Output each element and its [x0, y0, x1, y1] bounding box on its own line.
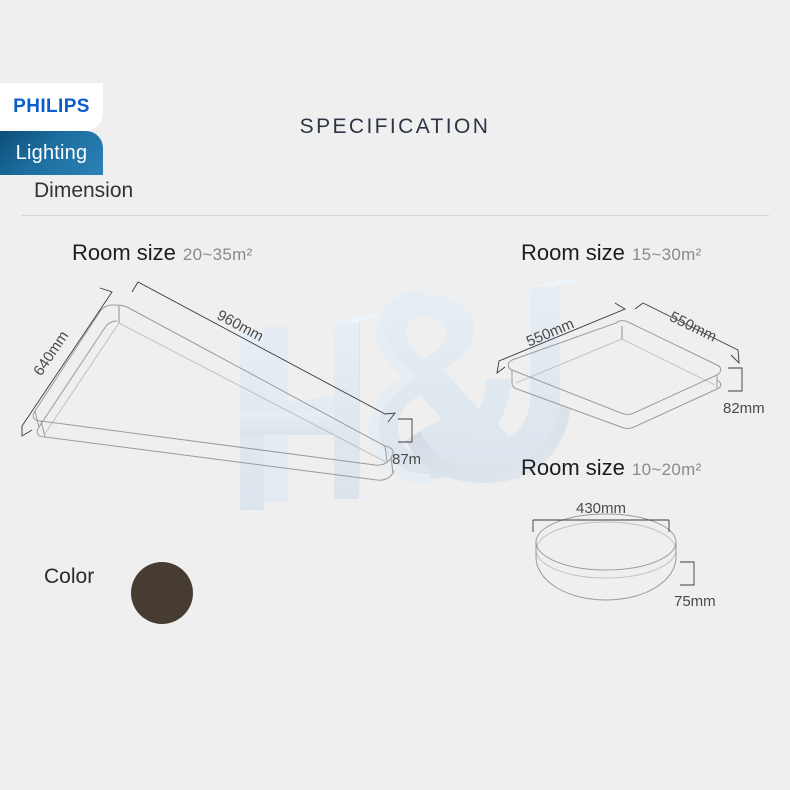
room-size-rectangular: Room size20~35m² [72, 240, 253, 266]
section-heading-dimension: Dimension [34, 179, 133, 203]
dim-label-82mm: 82mm [723, 400, 765, 417]
dim-label-550mm-right: 550mm [667, 308, 719, 345]
dim-label-87mm: 87mm [392, 451, 420, 468]
dim-label-75mm: 75mm [674, 593, 716, 610]
room-size-value: 15~30m² [632, 245, 702, 264]
dim-label-640mm: 640mm [30, 328, 72, 379]
dim-label-550mm-left: 550mm [524, 315, 577, 350]
room-size-label: Room size [72, 240, 176, 265]
product-drawing-rectangular: 960mm 640mm 87mm [20, 280, 420, 495]
room-size-round: Room size10~20m² [521, 455, 702, 481]
room-size-square: Room size15~30m² [521, 240, 702, 266]
dim-label-430mm: 430mm [576, 500, 626, 517]
color-swatch-dark-brown [131, 562, 193, 624]
philips-lighting-text: Lighting [16, 142, 88, 165]
dim-label-960mm: 960mm [214, 307, 266, 345]
page-title: SPECIFICATION [0, 115, 790, 139]
room-size-label: Room size [521, 240, 625, 265]
product-drawing-square: 550mm 550mm 82mm [495, 295, 770, 445]
room-size-label: Room size [521, 455, 625, 480]
room-size-value: 20~35m² [183, 245, 253, 264]
room-size-value: 10~20m² [632, 460, 702, 479]
specification-page: PHILIPS Lighting SPECIFICATION Dimension… [0, 0, 790, 790]
section-divider [22, 215, 769, 216]
color-section-label: Color [44, 565, 94, 589]
product-drawing-round: 430mm 75mm [520, 500, 755, 625]
